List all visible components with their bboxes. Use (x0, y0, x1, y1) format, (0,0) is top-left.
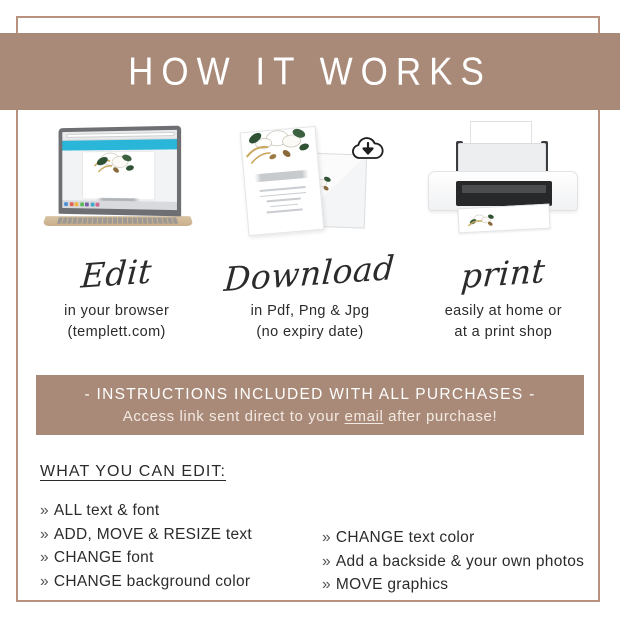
invitation-card (240, 126, 325, 236)
printed-floral-icon (463, 209, 508, 231)
step-caption-print: easily at home or at a print shop (445, 301, 562, 343)
subline-before: Access link sent direct to your (123, 408, 345, 425)
edit-item: »Add a backside & your own photos (322, 550, 580, 574)
edit-item-label: CHANGE text color (336, 529, 475, 546)
download-illustration (213, 118, 406, 243)
printer-slot-inner (462, 185, 546, 193)
caption-line-2: (no expiry date) (251, 322, 370, 343)
step-script-label-download: Download (223, 243, 397, 303)
edit-item-label: Add a backside & your own photos (336, 553, 584, 570)
edit-item-label: CHANGE background color (54, 573, 250, 590)
edit-list-left: »ALL text & font »ADD, MOVE & RESIZE tex… (40, 499, 310, 597)
step-caption-download: in Pdf, Png & Jpg (no expiry date) (251, 301, 370, 343)
browser-toolbar (62, 139, 177, 150)
edit-item: »ADD, MOVE & RESIZE text (40, 523, 310, 547)
edit-section-heading: WHAT YOU CAN EDIT: (40, 463, 226, 481)
laptop-screen (62, 130, 177, 210)
edit-item: »CHANGE font (40, 546, 310, 570)
edit-list-right: »CHANGE text color »Add a backside & you… (310, 499, 580, 597)
edit-item: »CHANGE text color (322, 526, 580, 550)
printer-icon (418, 121, 588, 243)
page-title: HOW IT WORKS (128, 49, 492, 94)
edit-item-label: MOVE graphics (336, 576, 448, 593)
card-text-lines (260, 186, 308, 217)
what-you-can-edit-section: WHAT YOU CAN EDIT: »ALL text & font »ADD… (40, 463, 580, 597)
cloud-download-icon (348, 133, 388, 163)
bullet-icon: » (40, 526, 49, 543)
instructions-banner: - INSTRUCTIONS INCLUDED WITH ALL PURCHAS… (36, 375, 584, 435)
invitation-preview (83, 152, 154, 200)
bullet-icon: » (40, 549, 49, 566)
header-banner: HOW IT WORKS (0, 33, 620, 110)
caption-line-1: in your browser (64, 301, 169, 322)
subline-after: after purchase! (383, 408, 497, 425)
steps-row: Edit in your browser (templett.com) (20, 118, 600, 348)
os-taskbar (62, 200, 177, 210)
email-link[interactable]: email (345, 408, 384, 425)
caption-line-2: (templett.com) (64, 322, 169, 343)
edit-item: »CHANGE background color (40, 570, 310, 594)
bullet-icon: » (322, 529, 331, 546)
printed-invitation (458, 204, 551, 234)
caption-line-1: easily at home or (445, 301, 562, 322)
card-names (254, 170, 308, 183)
card-floral-icon (240, 126, 320, 176)
invitation-envelope-icon (230, 123, 390, 243)
edit-item-label: ALL text & font (54, 502, 160, 519)
laptop-illustration (20, 118, 213, 243)
printer-illustration (407, 118, 600, 243)
edit-item: »ALL text & font (40, 499, 310, 523)
step-print: print easily at home or at a print shop (407, 118, 600, 348)
bullet-icon: » (322, 576, 331, 593)
step-script-label-print: print (459, 246, 547, 300)
browser-url-bar (66, 132, 175, 138)
laptop-icon (42, 125, 192, 243)
bullet-icon: » (322, 553, 331, 570)
step-edit: Edit in your browser (templett.com) (20, 118, 213, 348)
caption-line-1: in Pdf, Png & Jpg (251, 301, 370, 322)
bullet-icon: » (40, 573, 49, 590)
edit-item: »MOVE graphics (322, 573, 580, 597)
instructions-headline: - INSTRUCTIONS INCLUDED WITH ALL PURCHAS… (84, 386, 535, 404)
edit-columns: »ALL text & font »ADD, MOVE & RESIZE tex… (40, 499, 580, 597)
edit-item-label: ADD, MOVE & RESIZE text (54, 526, 252, 543)
bullet-icon: » (40, 502, 49, 519)
edit-item-label: CHANGE font (54, 549, 154, 566)
step-script-label-edit: Edit (80, 246, 154, 299)
step-download: Download in Pdf, Png & Jpg (no expiry da… (213, 118, 406, 348)
step-caption-edit: in your browser (templett.com) (64, 301, 169, 343)
laptop-lid (58, 126, 181, 217)
laptop-keyboard (57, 217, 179, 223)
floral-decor-icon (81, 150, 144, 184)
how-it-works-graphic: HOW IT WORKS (0, 0, 620, 620)
caption-line-2: at a print shop (445, 322, 562, 343)
instructions-subline: Access link sent direct to your email af… (123, 408, 497, 425)
